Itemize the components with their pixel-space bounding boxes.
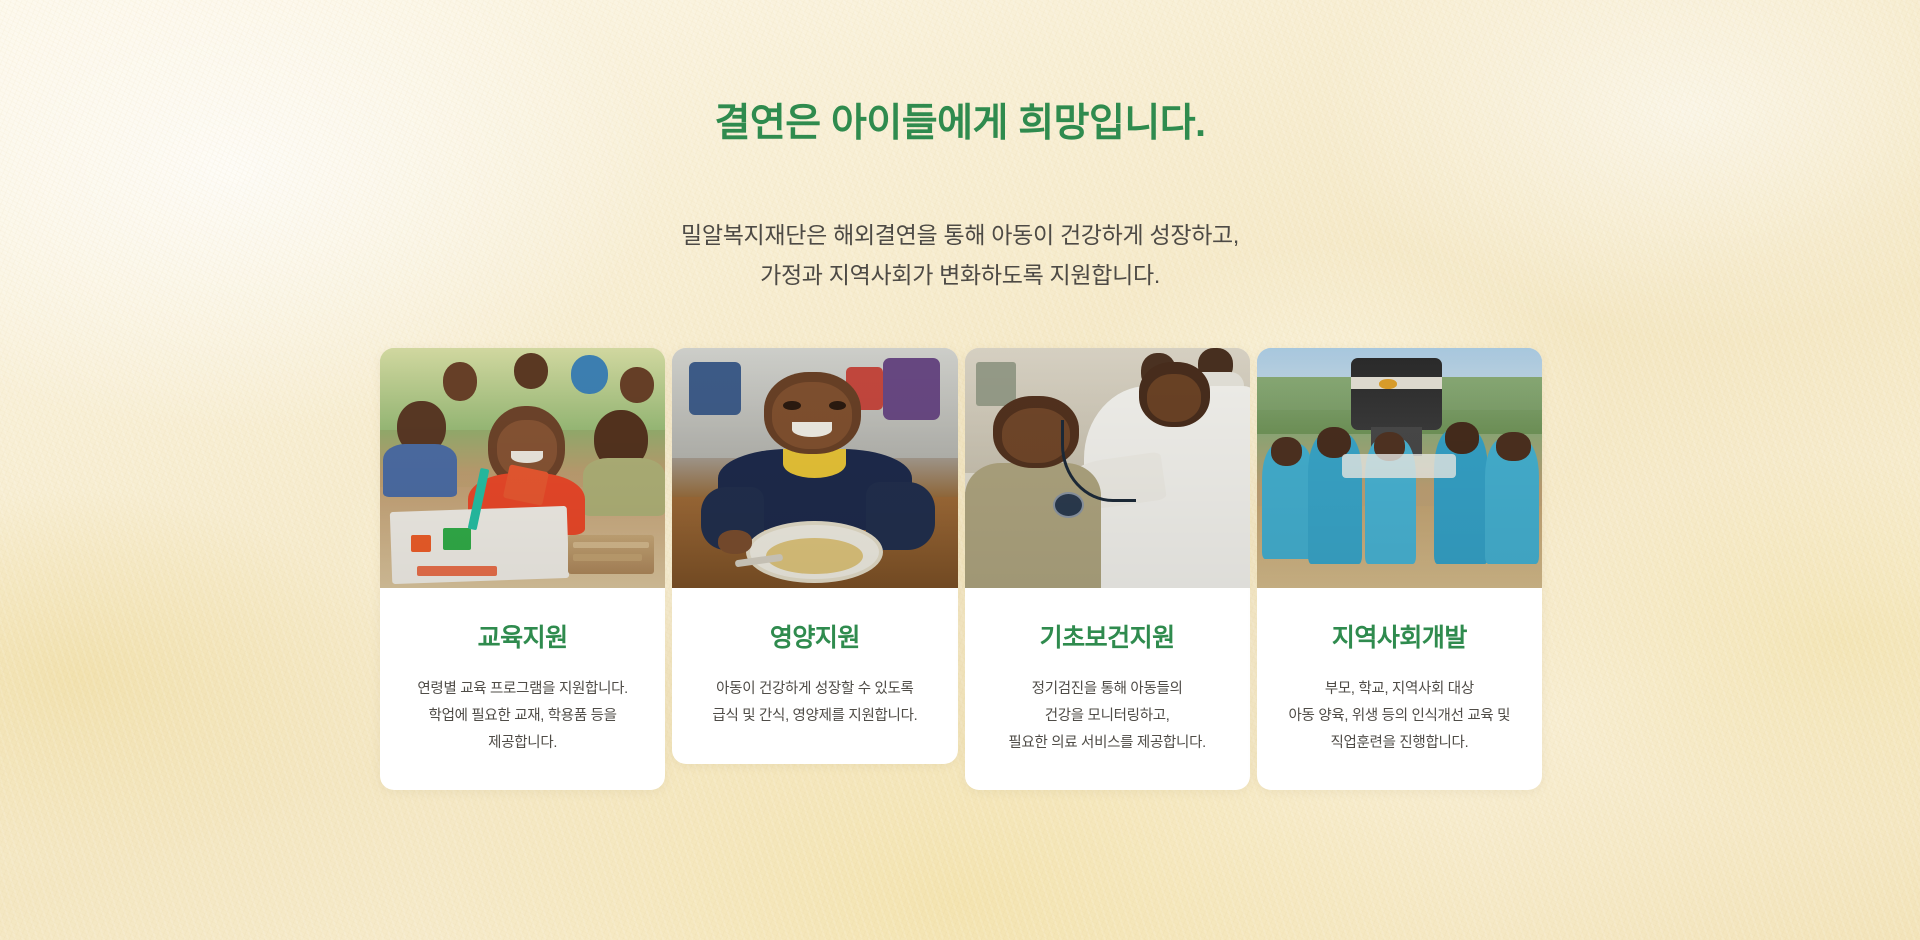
- card-nutrition-title: 영양지원: [690, 618, 939, 654]
- card-basic-health-description-line-2: 건강을 모니터링하고,: [983, 703, 1232, 730]
- card-education-body: 교육지원 연령별 교육 프로그램을 지원합니다. 학업에 필요한 교재, 학용품…: [380, 588, 665, 790]
- card-basic-health-description-line-3: 필요한 의료 서비스를 제공합니다.: [983, 730, 1232, 757]
- card-nutrition-description-line-1: 아동이 건강하게 성장할 수 있도록: [690, 676, 939, 703]
- card-basic-health[interactable]: 기초보건지원 정기검진을 통해 아동들의 건강을 모니터링하고, 필요한 의료 …: [965, 348, 1250, 790]
- page-content: 결연은 아이들에게 희망입니다. 밀알복지재단은 해외결연을 통해 아동이 건강…: [0, 0, 1920, 940]
- card-nutrition-description: 아동이 건강하게 성장할 수 있도록 급식 및 간식, 영양제를 지원합니다.: [690, 676, 939, 730]
- support-program-card-row: 교육지원 연령별 교육 프로그램을 지원합니다. 학업에 필요한 교재, 학용품…: [380, 348, 1542, 790]
- card-nutrition[interactable]: 영양지원 아동이 건강하게 성장할 수 있도록 급식 및 간식, 영양제를 지원…: [672, 348, 957, 764]
- card-education[interactable]: 교육지원 연령별 교육 프로그램을 지원합니다. 학업에 필요한 교재, 학용품…: [380, 348, 665, 790]
- card-community-development-description-line-1: 부모, 학교, 지역사회 대상: [1275, 676, 1524, 703]
- page-title: 결연은 아이들에게 희망입니다.: [0, 100, 1920, 149]
- card-basic-health-photo: [965, 348, 1250, 588]
- card-community-development-photo: [1257, 348, 1542, 588]
- card-nutrition-description-line-2: 급식 및 간식, 영양제를 지원합니다.: [690, 703, 939, 730]
- card-community-development[interactable]: 지역사회개발 부모, 학교, 지역사회 대상 아동 양육, 위생 등의 인식개선…: [1257, 348, 1542, 790]
- page-subtitle-line-2: 가정과 지역사회가 변화하도록 지원합니다.: [0, 255, 1920, 295]
- card-community-development-description: 부모, 학교, 지역사회 대상 아동 양육, 위생 등의 인식개선 교육 및 직…: [1275, 676, 1524, 756]
- card-education-title: 교육지원: [398, 618, 647, 654]
- page-subtitle: 밀알복지재단은 해외결연을 통해 아동이 건강하게 성장하고, 가정과 지역사회…: [0, 215, 1920, 296]
- card-community-development-description-line-3: 직업훈련을 진행합니다.: [1275, 730, 1524, 757]
- card-community-development-description-line-2: 아동 양육, 위생 등의 인식개선 교육 및: [1275, 703, 1524, 730]
- page-subtitle-line-1: 밀알복지재단은 해외결연을 통해 아동이 건강하게 성장하고,: [0, 215, 1920, 255]
- card-education-description-line-3: 제공합니다.: [398, 730, 647, 757]
- card-education-description-line-2: 학업에 필요한 교재, 학용품 등을: [398, 703, 647, 730]
- card-community-development-title: 지역사회개발: [1275, 618, 1524, 654]
- card-basic-health-description: 정기검진을 통해 아동들의 건강을 모니터링하고, 필요한 의료 서비스를 제공…: [983, 676, 1232, 756]
- card-basic-health-body: 기초보건지원 정기검진을 통해 아동들의 건강을 모니터링하고, 필요한 의료 …: [965, 588, 1250, 790]
- card-basic-health-title: 기초보건지원: [983, 618, 1232, 654]
- card-education-description-line-1: 연령별 교육 프로그램을 지원합니다.: [398, 676, 647, 703]
- card-community-development-body: 지역사회개발 부모, 학교, 지역사회 대상 아동 양육, 위생 등의 인식개선…: [1257, 588, 1542, 790]
- card-basic-health-description-line-1: 정기검진을 통해 아동들의: [983, 676, 1232, 703]
- card-nutrition-photo: [672, 348, 957, 588]
- card-education-photo: [380, 348, 665, 588]
- card-education-description: 연령별 교육 프로그램을 지원합니다. 학업에 필요한 교재, 학용품 등을 제…: [398, 676, 647, 756]
- card-nutrition-body: 영양지원 아동이 건강하게 성장할 수 있도록 급식 및 간식, 영양제를 지원…: [672, 588, 957, 764]
